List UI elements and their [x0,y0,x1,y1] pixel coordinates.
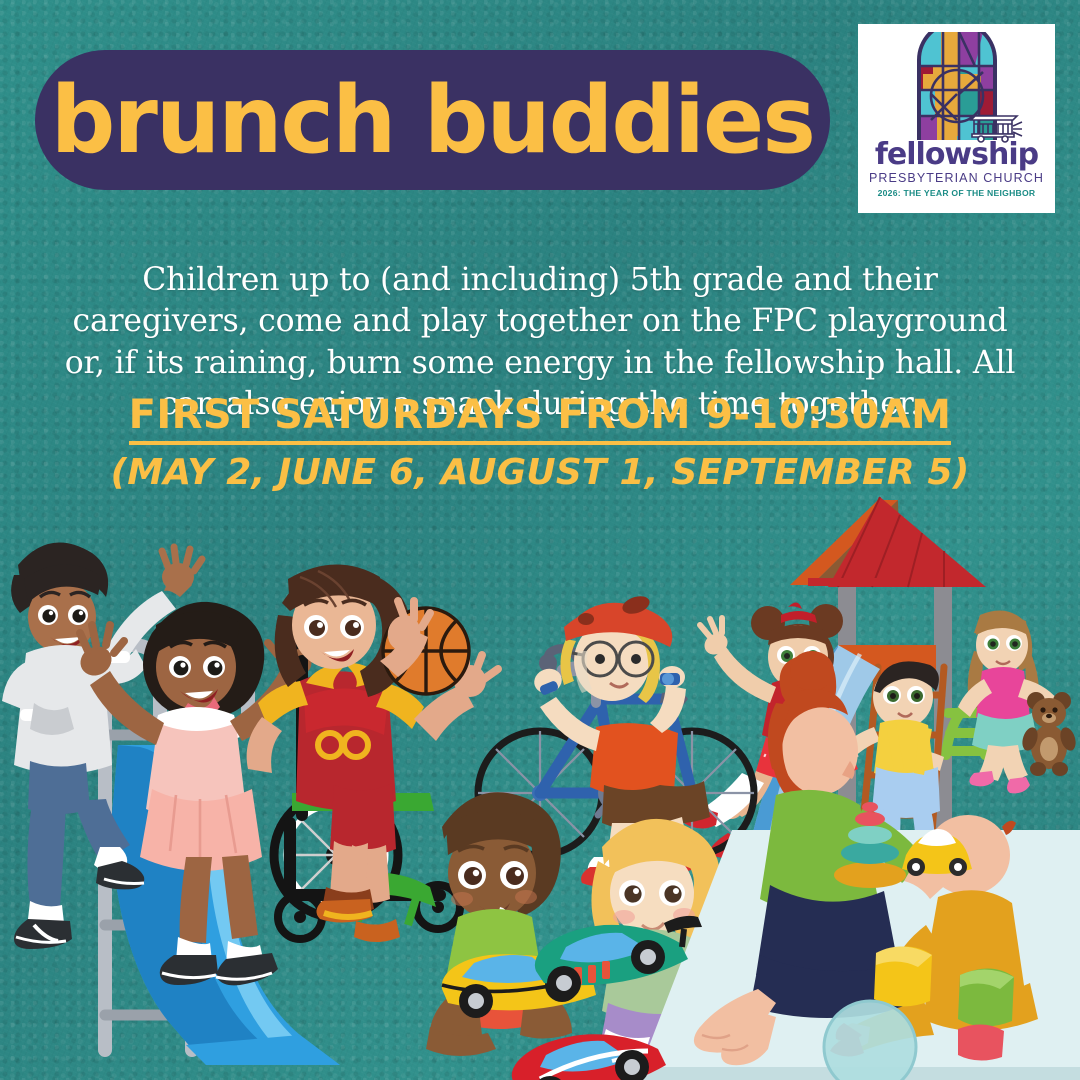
playground-illustration [0,455,1080,1080]
teddy-bear-toy [1020,692,1079,776]
logo-tagline: 2026: THE YEAR OF THE NEIGHBOR [878,188,1036,198]
logo-wordmark: fellowship [875,141,1038,170]
title-badge: brunch buddies [35,50,830,190]
logo-subtitle: PRESBYTERIAN CHURCH [869,171,1044,185]
girl-with-teddy-bear [958,611,1078,794]
church-logo-card: fellowship PRESBYTERIAN CHURCH 2026: THE… [858,24,1055,213]
page-title: brunch buddies [51,74,814,167]
stained-glass-window-icon [913,32,1001,140]
trolley-icon [965,108,1023,144]
poster-canvas: brunch buddies [0,0,1080,1080]
schedule-headline: FIRST SATURDAYS FROM 9-10:30AM [129,392,952,445]
